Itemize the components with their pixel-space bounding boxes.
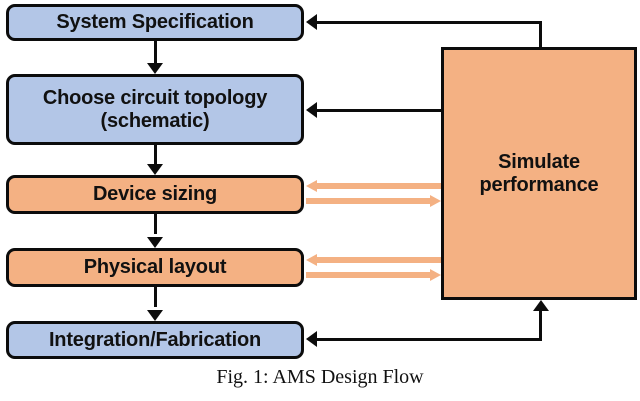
node-simulate-performance-label: Simulate performance <box>480 151 599 196</box>
edge-spec-to-topology-line <box>154 41 157 65</box>
edge-simulate-to-sizing-line <box>317 183 441 189</box>
node-physical-layout[interactable]: Physical layout <box>6 248 304 287</box>
node-choose-circuit-topology-line1: Choose circuit topology <box>43 87 267 109</box>
edge-simulate-to-sizing-arrowhead <box>306 180 317 192</box>
node-simulate-performance-line2: performance <box>480 174 599 196</box>
edge-simulate-to-layout-arrowhead <box>306 254 317 266</box>
node-integration-fabrication[interactable]: Integration/Fabrication <box>6 321 304 359</box>
edge-integration-to-simulate-arrowhead <box>533 300 549 311</box>
edge-sizing-to-layout-line <box>154 214 157 234</box>
edge-layout-to-simulate-arrowhead <box>430 269 441 281</box>
edge-simulate-to-topology-arrowhead <box>306 102 317 118</box>
edge-integration-to-simulate-vertical <box>539 311 542 341</box>
node-choose-circuit-topology[interactable]: Choose circuit topology (schematic) <box>6 74 304 145</box>
node-choose-circuit-topology-line2: (schematic) <box>101 110 210 132</box>
edge-layout-to-integration-line <box>154 287 157 307</box>
edge-topology-to-sizing-arrowhead <box>147 164 163 175</box>
node-system-specification[interactable]: System Specification <box>6 4 304 41</box>
node-simulate-performance[interactable]: Simulate performance <box>441 47 637 300</box>
edge-simulate-to-spec-horizontal <box>317 21 542 24</box>
edge-simulate-to-spec-vertical <box>539 21 542 49</box>
edge-topology-to-sizing-line <box>154 145 157 166</box>
edge-simulate-to-integration-arrowhead <box>306 331 317 347</box>
node-system-specification-label: System Specification <box>56 11 253 33</box>
edge-spec-to-topology-arrowhead <box>147 63 163 74</box>
edge-simulate-to-spec-arrowhead <box>306 14 317 30</box>
flowchart-diagram: System Specification Choose circuit topo… <box>0 0 640 401</box>
node-device-sizing[interactable]: Device sizing <box>6 175 304 214</box>
edge-layout-to-simulate-line <box>306 272 430 278</box>
node-physical-layout-label: Physical layout <box>84 256 227 278</box>
node-integration-fabrication-label: Integration/Fabrication <box>49 329 261 351</box>
figure-caption: Fig. 1: AMS Design Flow <box>0 366 640 389</box>
edge-simulate-to-topology-horizontal <box>317 109 442 112</box>
node-device-sizing-label: Device sizing <box>93 183 217 205</box>
edge-layout-to-integration-arrowhead <box>147 310 163 321</box>
edge-sizing-to-simulate-arrowhead <box>430 195 441 207</box>
node-choose-circuit-topology-label: Choose circuit topology (schematic) <box>43 87 267 132</box>
edge-sizing-to-layout-arrowhead <box>147 237 163 248</box>
edge-sizing-to-simulate-line <box>306 198 430 204</box>
edge-integration-to-simulate-horizontal <box>317 338 542 341</box>
node-simulate-performance-line1: Simulate <box>498 151 580 173</box>
edge-simulate-to-layout-line <box>317 257 441 263</box>
